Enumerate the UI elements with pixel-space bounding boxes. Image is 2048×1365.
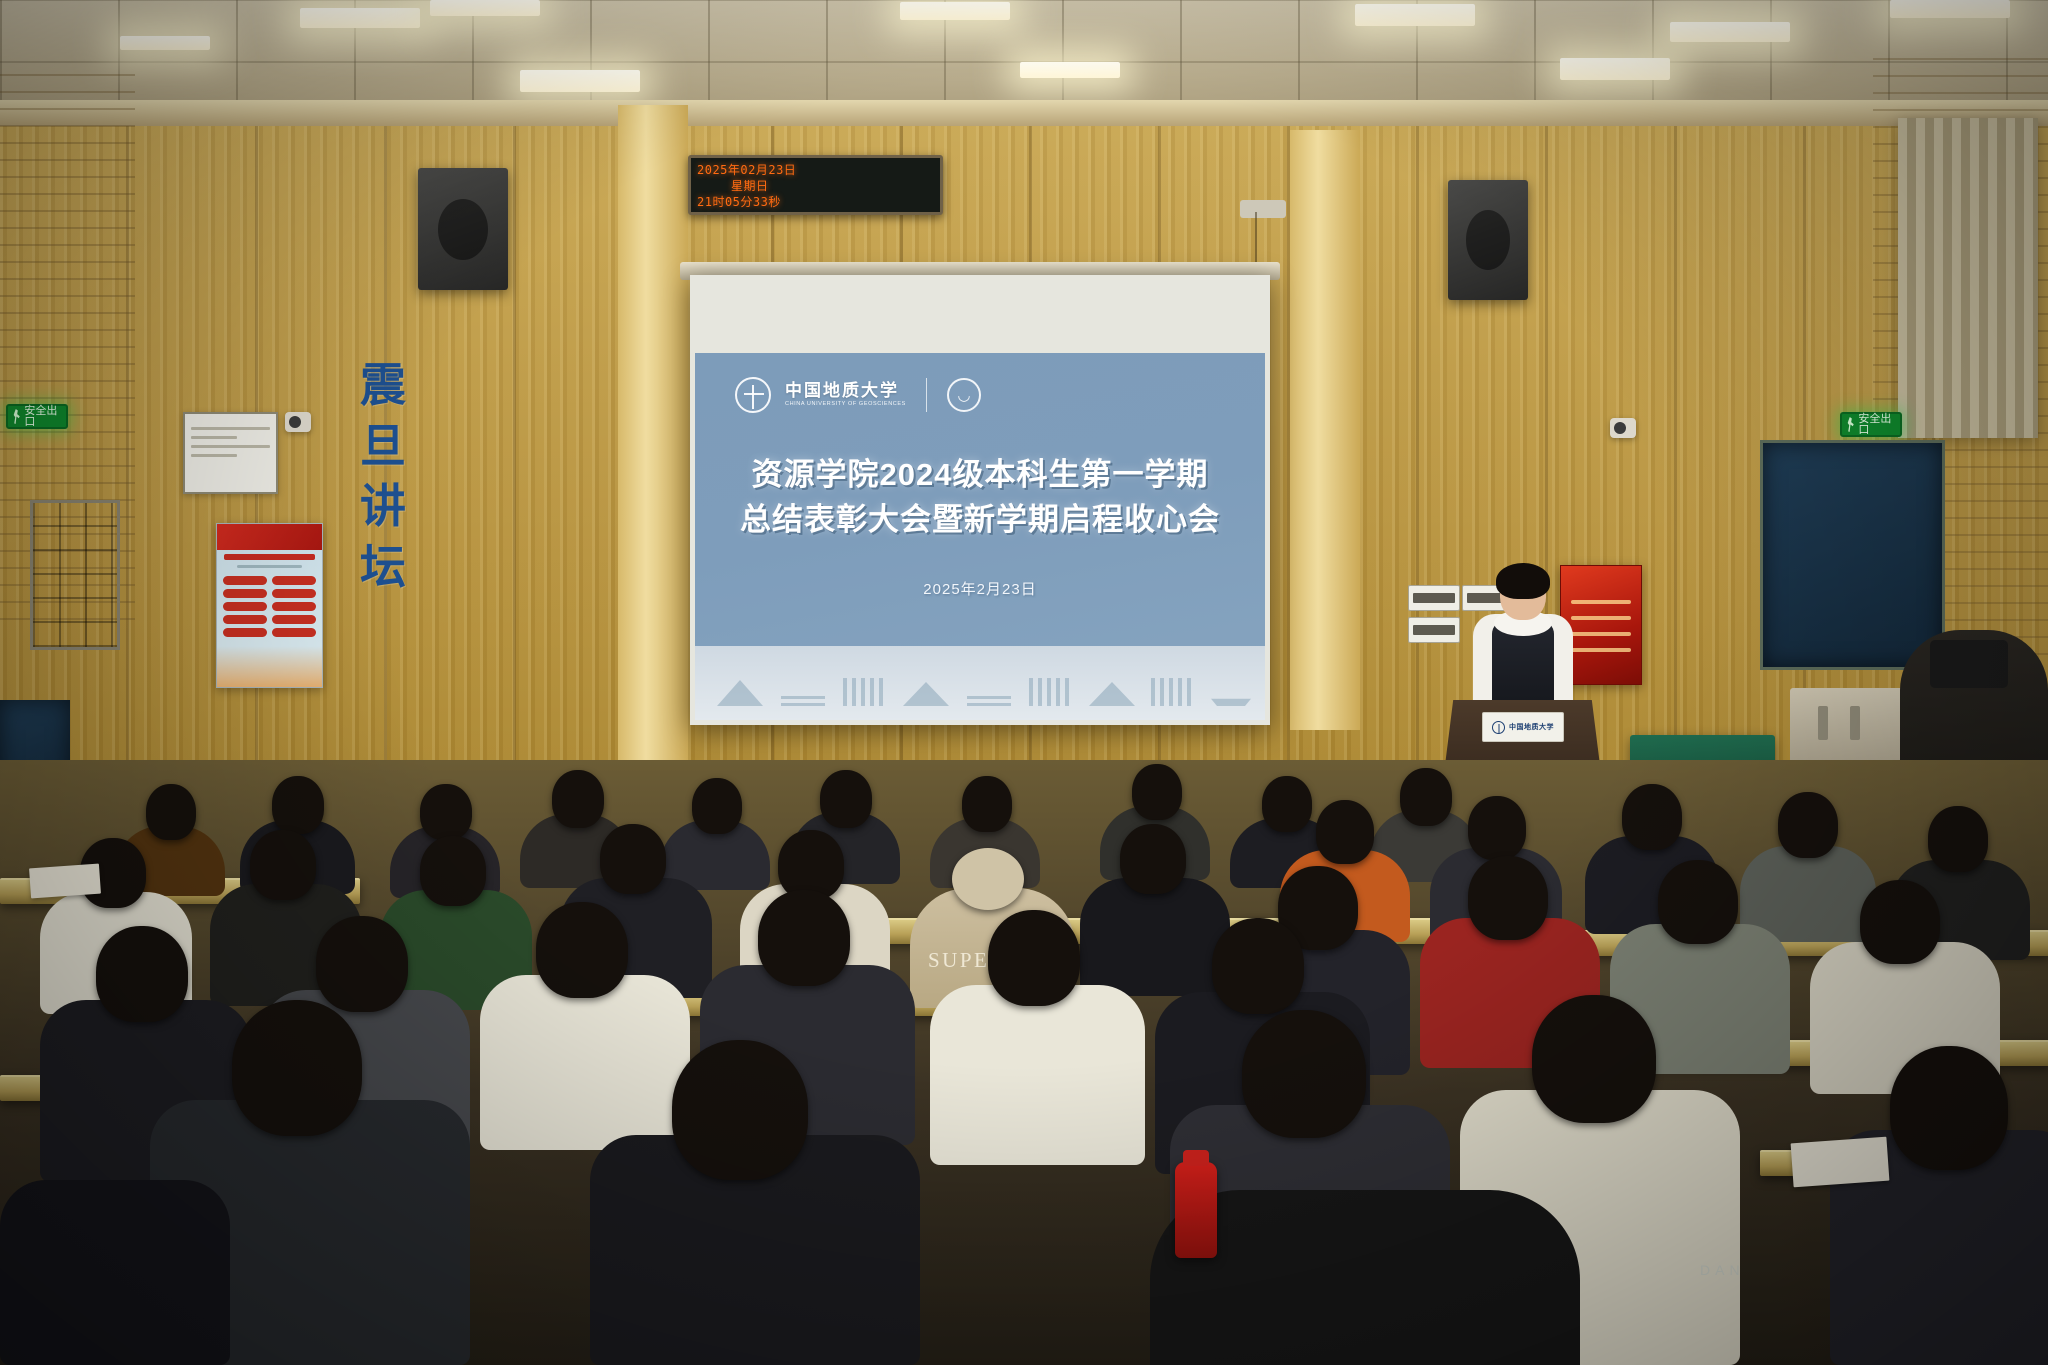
audience-head bbox=[232, 1000, 362, 1136]
skyline-towers bbox=[1151, 678, 1193, 706]
notice-line bbox=[191, 445, 270, 448]
ceiling-light-panel bbox=[1890, 0, 2010, 18]
wall-switch-plate[interactable] bbox=[1408, 585, 1460, 611]
audience-head bbox=[1316, 800, 1374, 864]
audience-head bbox=[1860, 880, 1940, 964]
audience-head bbox=[672, 1040, 808, 1180]
audience-member bbox=[0, 1180, 230, 1365]
skyline-mountain bbox=[1089, 682, 1135, 706]
dispenser-tap[interactable] bbox=[1818, 706, 1828, 740]
poster-heading bbox=[224, 554, 315, 560]
ceiling-light-panel bbox=[520, 70, 640, 92]
speaker-at-podium bbox=[1468, 568, 1578, 718]
audience-head bbox=[1890, 1046, 2008, 1170]
led-date: 2025年02月23日 bbox=[697, 162, 940, 178]
poster-item bbox=[223, 589, 267, 598]
red-flag-banner bbox=[217, 524, 322, 550]
running-person-icon bbox=[12, 409, 21, 424]
wall-switch-plate[interactable] bbox=[1408, 617, 1460, 643]
wall-poster-left bbox=[216, 523, 323, 688]
poster-item-grid bbox=[223, 576, 316, 637]
audience-head bbox=[600, 824, 666, 894]
audience-head bbox=[692, 778, 742, 834]
jacket-back-text: DAN bbox=[1700, 1262, 1745, 1278]
podium-plate-text: 中国地质大学 bbox=[1509, 722, 1554, 732]
audience-head bbox=[1778, 792, 1838, 858]
speaker-hair bbox=[1496, 563, 1550, 599]
notice-line bbox=[191, 427, 270, 430]
university-name-en: CHINA UNIVERSITY OF GEOSCIENCES bbox=[785, 402, 906, 408]
wall-notice-frame bbox=[183, 412, 278, 494]
exit-sign-left: 安全出口 bbox=[6, 404, 68, 429]
side-window bbox=[30, 500, 120, 650]
ceiling-projector bbox=[1240, 200, 1286, 218]
ceiling-light-panel bbox=[1560, 58, 1670, 80]
poster-item bbox=[272, 628, 316, 637]
running-person-icon bbox=[1846, 417, 1855, 432]
exit-sign-label: 安全出口 bbox=[24, 406, 62, 428]
ceiling-speaker-left bbox=[418, 168, 508, 290]
audience-head bbox=[250, 830, 316, 900]
slide-title-line-2: 总结表彰大会暨新学期启程收心会 bbox=[695, 498, 1265, 543]
poster-item bbox=[272, 615, 316, 624]
surveillance-camera-right bbox=[1610, 418, 1636, 438]
wall-calligraphy: 震旦讲坛 bbox=[348, 355, 418, 598]
audience-head bbox=[988, 910, 1080, 1006]
podium-nameplate: 中国地质大学 bbox=[1482, 712, 1564, 742]
notebook-on-desk[interactable] bbox=[29, 864, 101, 899]
audience-head bbox=[1532, 995, 1656, 1123]
led-clock-display: 2025年02月23日 星期日 21时05分33秒 bbox=[688, 155, 943, 215]
skyline-mountain bbox=[903, 682, 949, 706]
slide-title-line-1: 资源学院2024级本科生第一学期 bbox=[695, 453, 1265, 498]
audience-head bbox=[1928, 806, 1988, 872]
wall-pillar-left bbox=[618, 105, 688, 805]
logo-divider bbox=[926, 378, 927, 412]
dispenser-tap[interactable] bbox=[1850, 706, 1860, 740]
presentation-slide: 中国地质大学 CHINA UNIVERSITY OF GEOSCIENCES ◡… bbox=[695, 353, 1265, 720]
lecture-hall-photo: 安全出口 安全出口 震旦讲坛 2025年02月23日 星期日 21时05分33秒 bbox=[0, 0, 2048, 1365]
audience-head bbox=[420, 784, 472, 840]
audience-head bbox=[96, 926, 188, 1022]
water-bottle[interactable] bbox=[1175, 1162, 1217, 1258]
poster-item bbox=[223, 628, 267, 637]
secondary-emblem-icon: ◡ bbox=[947, 378, 981, 412]
poster-item bbox=[272, 589, 316, 598]
notice-line bbox=[191, 436, 237, 439]
audience-head bbox=[820, 770, 872, 828]
audience-head bbox=[316, 916, 408, 1012]
audience-head bbox=[1658, 860, 1738, 944]
poster-line bbox=[1571, 632, 1631, 636]
audience-head bbox=[1242, 1010, 1366, 1138]
ceiling-light-panel bbox=[1670, 22, 1790, 42]
slide-date: 2025年2月23日 bbox=[695, 578, 1265, 599]
audience-head bbox=[1120, 824, 1186, 894]
audience-head bbox=[146, 784, 196, 840]
led-time: 21时05分33秒 bbox=[697, 194, 940, 210]
ceiling-light-panel bbox=[430, 0, 540, 16]
audience-head bbox=[1468, 856, 1548, 940]
poster-item bbox=[272, 602, 316, 611]
audience-head bbox=[1622, 784, 1682, 850]
audience-head bbox=[552, 770, 604, 828]
exit-sign-right: 安全出口 bbox=[1840, 412, 1902, 437]
led-weekday: 星期日 bbox=[697, 178, 940, 194]
surveillance-camera-left bbox=[285, 412, 311, 432]
poster-line bbox=[1571, 648, 1631, 652]
ceiling-speaker-right bbox=[1448, 180, 1528, 300]
audience-head bbox=[962, 776, 1012, 832]
skyline-boat bbox=[1211, 688, 1251, 706]
skyline-wave bbox=[967, 692, 1011, 706]
audience-member bbox=[480, 975, 690, 1150]
video-camera bbox=[1930, 640, 2008, 688]
university-seal-icon bbox=[1492, 721, 1505, 734]
ceiling-light-panel bbox=[300, 8, 420, 28]
poster-line bbox=[1571, 616, 1631, 620]
skyline-mountain bbox=[717, 680, 763, 706]
audience-head bbox=[420, 836, 486, 906]
audience-head bbox=[1262, 776, 1312, 832]
exit-sign-label: 安全出口 bbox=[1858, 414, 1896, 436]
poster-line bbox=[1571, 600, 1631, 604]
audience-head bbox=[272, 776, 324, 834]
ceiling-light-panel bbox=[1020, 62, 1120, 78]
audience-head bbox=[758, 890, 850, 986]
poster-subheading bbox=[237, 565, 302, 568]
university-seal-icon bbox=[735, 377, 771, 413]
ceiling-light-panel bbox=[1355, 4, 1475, 26]
audience-member bbox=[1080, 878, 1230, 996]
slide-logo-row: 中国地质大学 CHINA UNIVERSITY OF GEOSCIENCES ◡ bbox=[735, 377, 981, 413]
notebook-on-desk[interactable] bbox=[1791, 1137, 1890, 1188]
ceiling-light-panel bbox=[900, 2, 1010, 20]
audience-member bbox=[930, 985, 1145, 1165]
skyline-wave bbox=[781, 692, 825, 706]
window-curtain bbox=[1898, 118, 2038, 438]
poster-item bbox=[223, 602, 267, 611]
audience-head bbox=[1468, 796, 1526, 860]
door-right[interactable] bbox=[1760, 440, 1945, 670]
ceiling-light-panel bbox=[120, 36, 210, 50]
poster-item bbox=[272, 576, 316, 585]
audience-head bbox=[536, 902, 628, 998]
audience-head bbox=[1132, 764, 1182, 820]
wall-pillar-right bbox=[1290, 130, 1360, 730]
audience-head bbox=[1400, 768, 1452, 826]
skyline-towers bbox=[843, 678, 885, 706]
slide-title: 资源学院2024级本科生第一学期 总结表彰大会暨新学期启程收心会 bbox=[695, 453, 1265, 543]
projection-screen: 中国地质大学 CHINA UNIVERSITY OF GEOSCIENCES ◡… bbox=[690, 275, 1270, 725]
university-name-cn: 中国地质大学 bbox=[785, 382, 906, 400]
poster-item bbox=[223, 576, 267, 585]
skyline-towers bbox=[1029, 678, 1071, 706]
notice-line bbox=[191, 454, 237, 457]
audience-head bbox=[1212, 918, 1304, 1014]
slide-skyline-graphic bbox=[695, 646, 1265, 720]
audience-head bbox=[952, 848, 1024, 910]
university-name-block: 中国地质大学 CHINA UNIVERSITY OF GEOSCIENCES bbox=[785, 382, 906, 408]
ceiling-beam bbox=[0, 100, 2048, 126]
poster-item bbox=[223, 615, 267, 624]
